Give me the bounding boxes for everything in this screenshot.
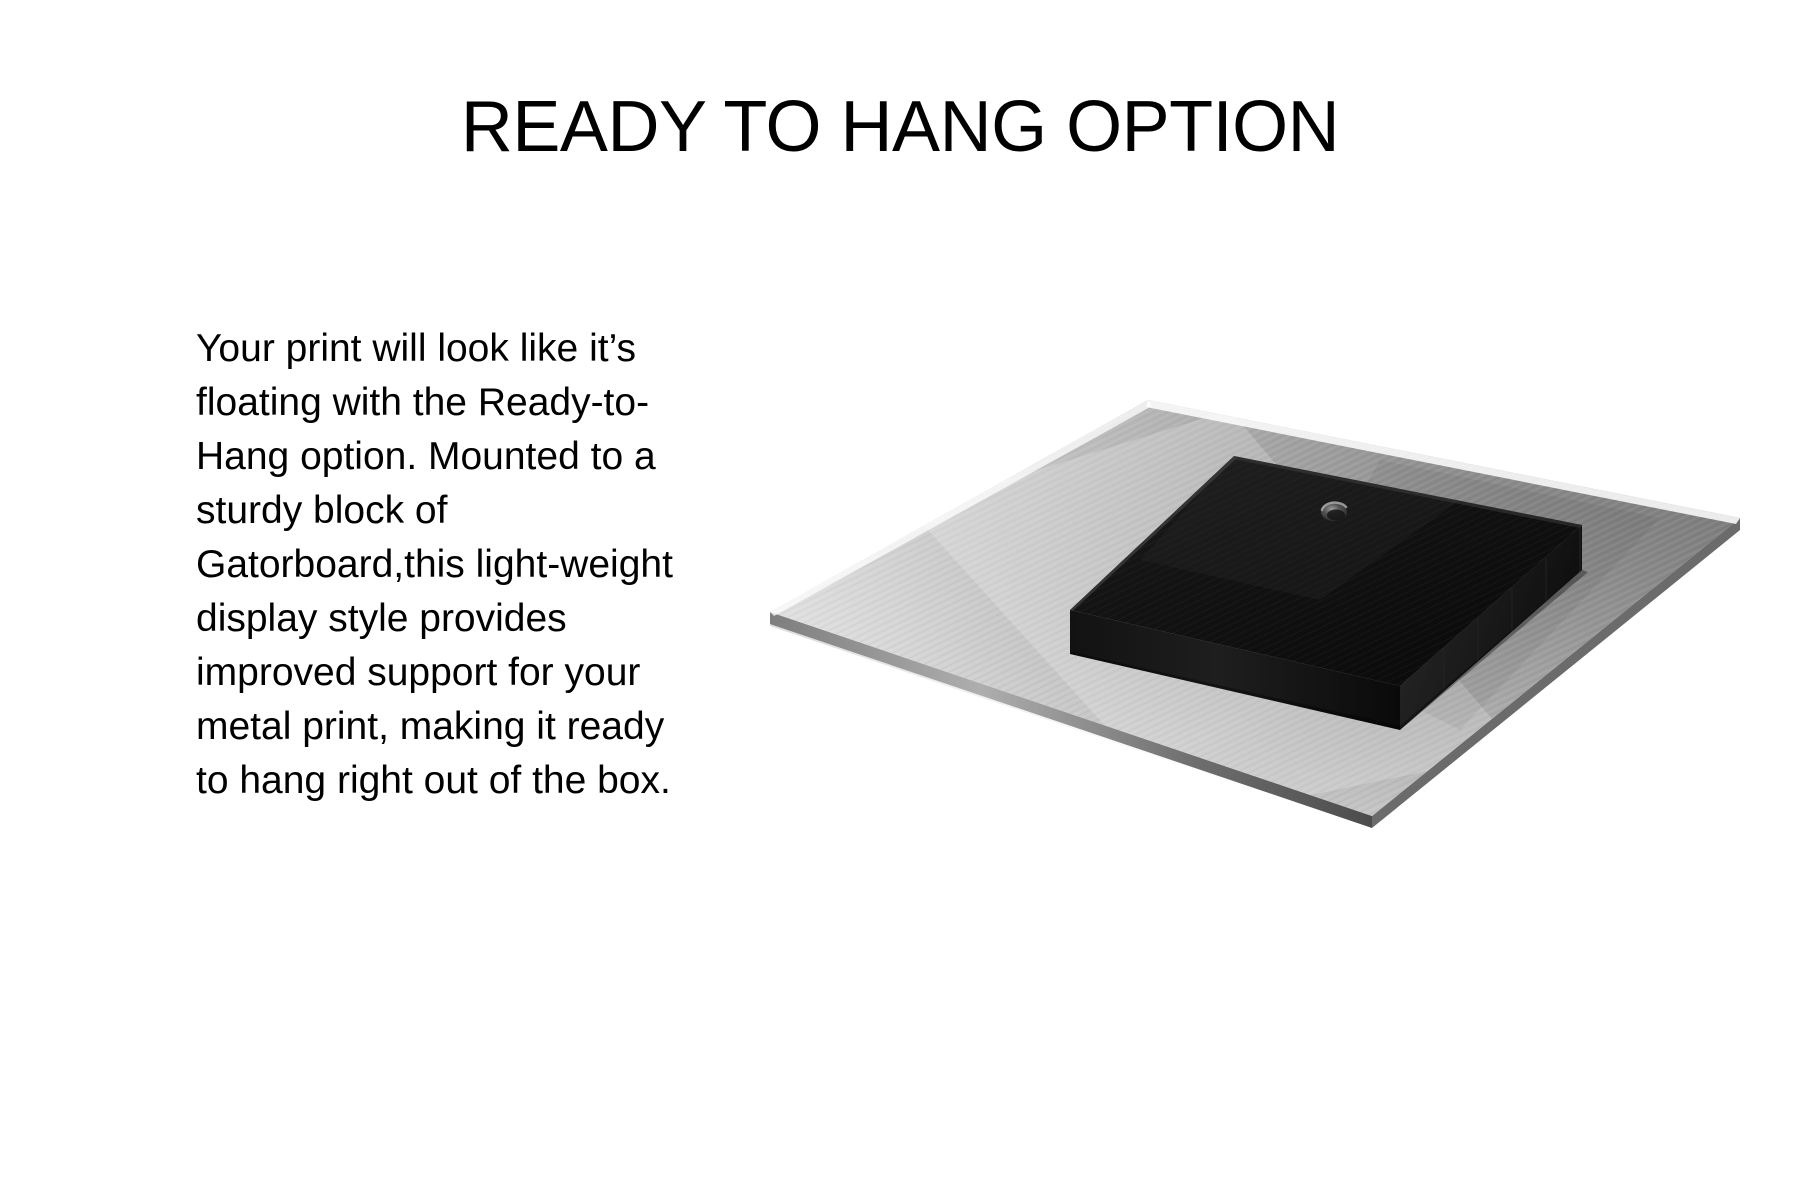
slide-canvas: READY TO HANG OPTION Your print will loo… xyxy=(0,0,1800,1200)
body-paragraph: Your print will look like it’s floating … xyxy=(196,322,696,808)
hanging-hole xyxy=(1321,503,1347,521)
metal-print-illustration xyxy=(760,400,1740,920)
page-title: READY TO HANG OPTION xyxy=(0,90,1800,166)
product-image xyxy=(760,400,1740,920)
